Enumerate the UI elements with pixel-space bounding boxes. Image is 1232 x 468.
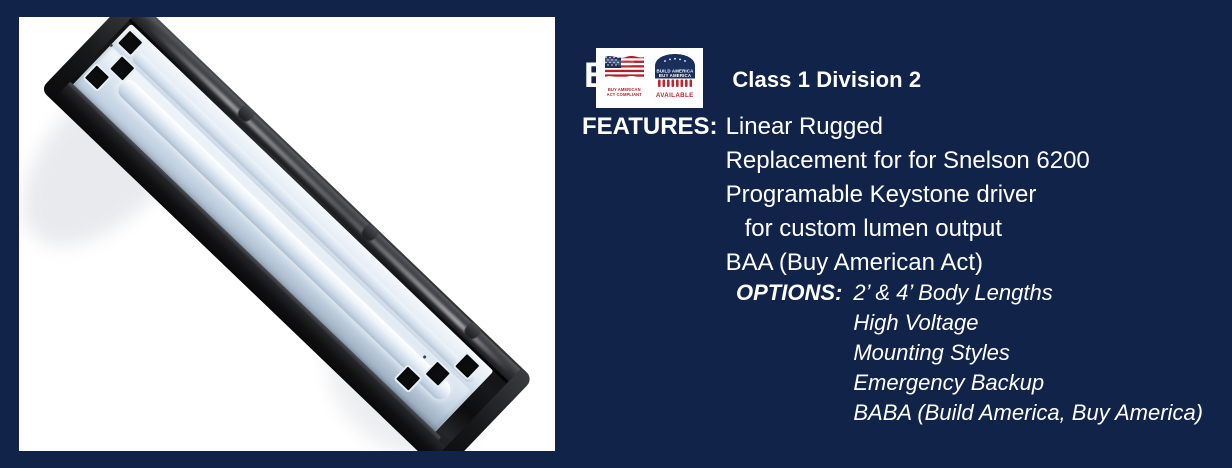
features-label: FEATURES: (582, 110, 718, 144)
feature-item: for custom lumen output (726, 212, 1090, 246)
option-item: 2’ & 4’ Body Lengths (853, 278, 1203, 308)
option-item: Emergency Backup (853, 368, 1203, 398)
baba-arch-icon-svg: BUILD AMERICA BUY AMERICA (651, 52, 699, 92)
product-photo-panel (19, 17, 555, 451)
buy-american-act-logo: BUY AMERICAN ACT COMPLIANT (599, 51, 650, 105)
features-block: FEATURES: Linear Rugged Replacement for … (582, 110, 1090, 280)
options-label: OPTIONS: (736, 278, 842, 308)
feature-item: Programable Keystone driver (726, 178, 1090, 212)
baba-available-caption: AVAILABLE (656, 92, 694, 99)
product-spec-slide: BRTL Class 1 Division 2 FEATURES: Linear… (0, 0, 1232, 468)
feature-item: BAA (Buy American Act) (726, 246, 1090, 280)
fixture-lamp-tube (114, 76, 454, 403)
caption-line: ACT COMPLIANT (607, 92, 642, 97)
option-item: BABA (Build America, Buy America) (853, 398, 1203, 428)
build-america-buy-america-arch-icon: BUILD AMERICA BUY AMERICA (651, 52, 699, 92)
product-info-column: BRTL Class 1 Division 2 FEATURES: Linear… (576, 0, 1232, 468)
buy-american-act-caption: BUY AMERICAN ACT COMPLIANT (607, 87, 642, 97)
usa-flag-icon (602, 53, 646, 86)
buy-american-compliance-badge: BUY AMERICAN ACT COMPLIANT BUILD AMER (596, 48, 703, 108)
option-item: Mounting Styles (853, 338, 1203, 368)
features-list: Linear Rugged Replacement for for Snelso… (726, 110, 1090, 280)
feature-item: Linear Rugged (726, 110, 1090, 144)
build-america-buy-america-logo: BUILD AMERICA BUY AMERICA (650, 51, 701, 105)
light-fixture-image (41, 17, 534, 451)
model-classification: Class 1 Division 2 (732, 69, 921, 91)
usa-flag-icon-svg (602, 53, 646, 86)
option-item: High Voltage (853, 308, 1203, 338)
svg-text:BUY AMERICA: BUY AMERICA (659, 73, 692, 78)
product-photo-stage (19, 17, 555, 451)
feature-item: Replacement for for Snelson 6200 (726, 144, 1090, 178)
options-block: OPTIONS: 2’ & 4’ Body Lengths High Volta… (736, 278, 1203, 428)
options-list: 2’ & 4’ Body Lengths High Voltage Mounti… (853, 278, 1203, 428)
